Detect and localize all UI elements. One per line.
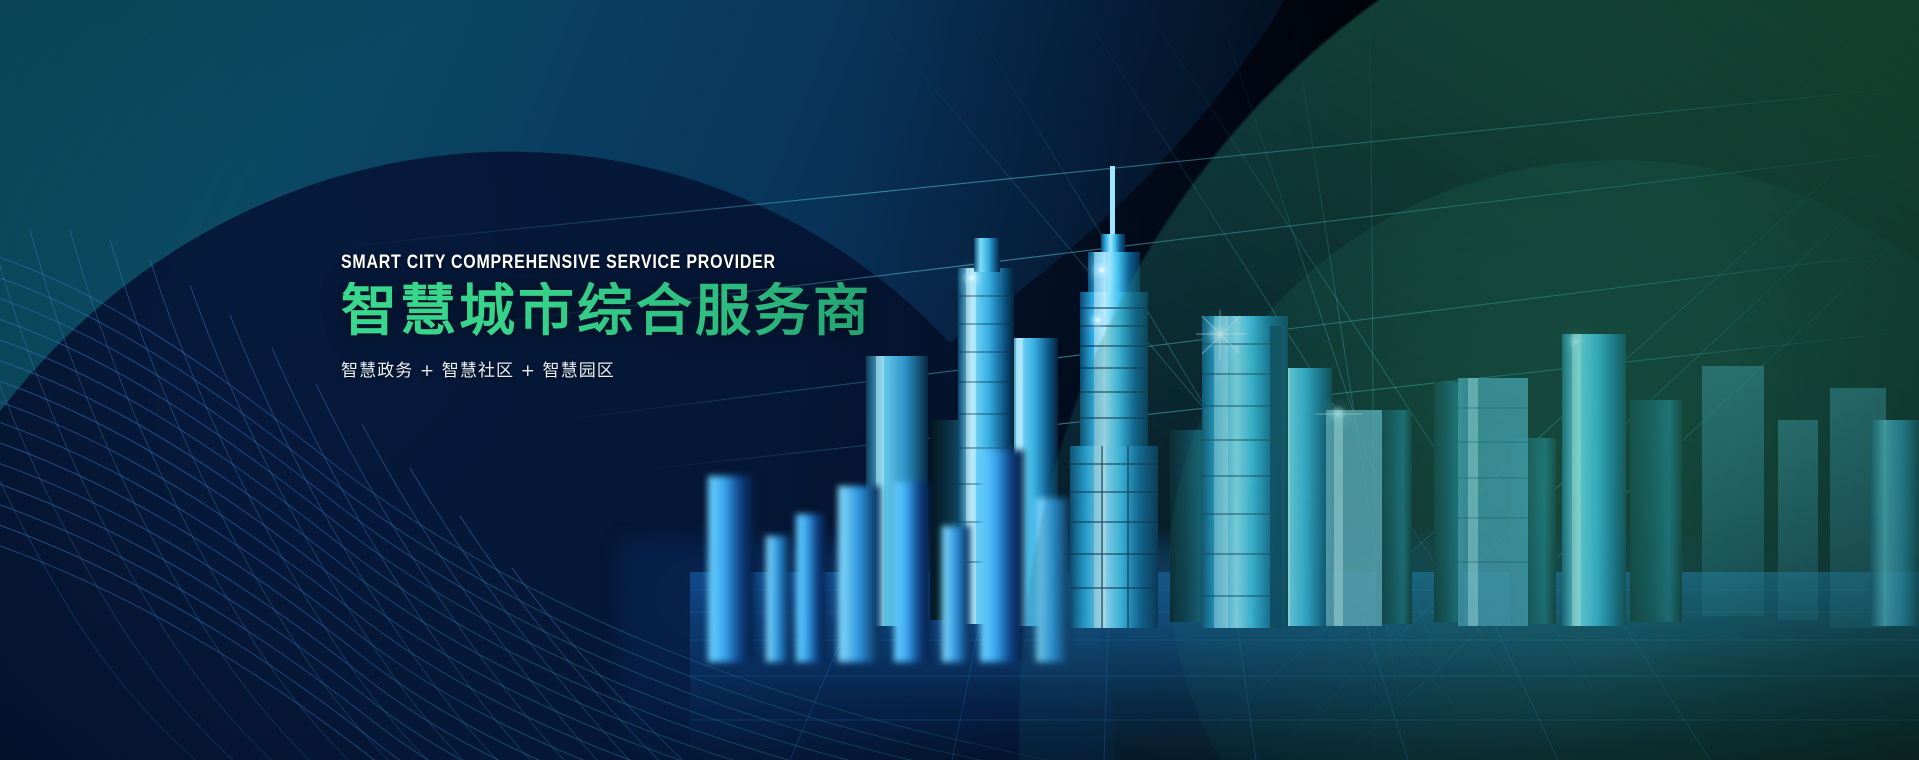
hero-copy-block: SMART CITY COMPREHENSIVE SERVICE PROVIDE… bbox=[341, 252, 1021, 381]
hero-subline: 智慧政务 + 智慧社区 + 智慧园区 bbox=[341, 356, 1021, 381]
hero-headline: 智慧城市综合服务商 bbox=[341, 282, 1021, 342]
hero-tagline: SMART CITY COMPREHENSIVE SERVICE PROVIDE… bbox=[341, 252, 912, 274]
smart-city-hero-banner: SMART CITY COMPREHENSIVE SERVICE PROVIDE… bbox=[0, 0, 1919, 760]
